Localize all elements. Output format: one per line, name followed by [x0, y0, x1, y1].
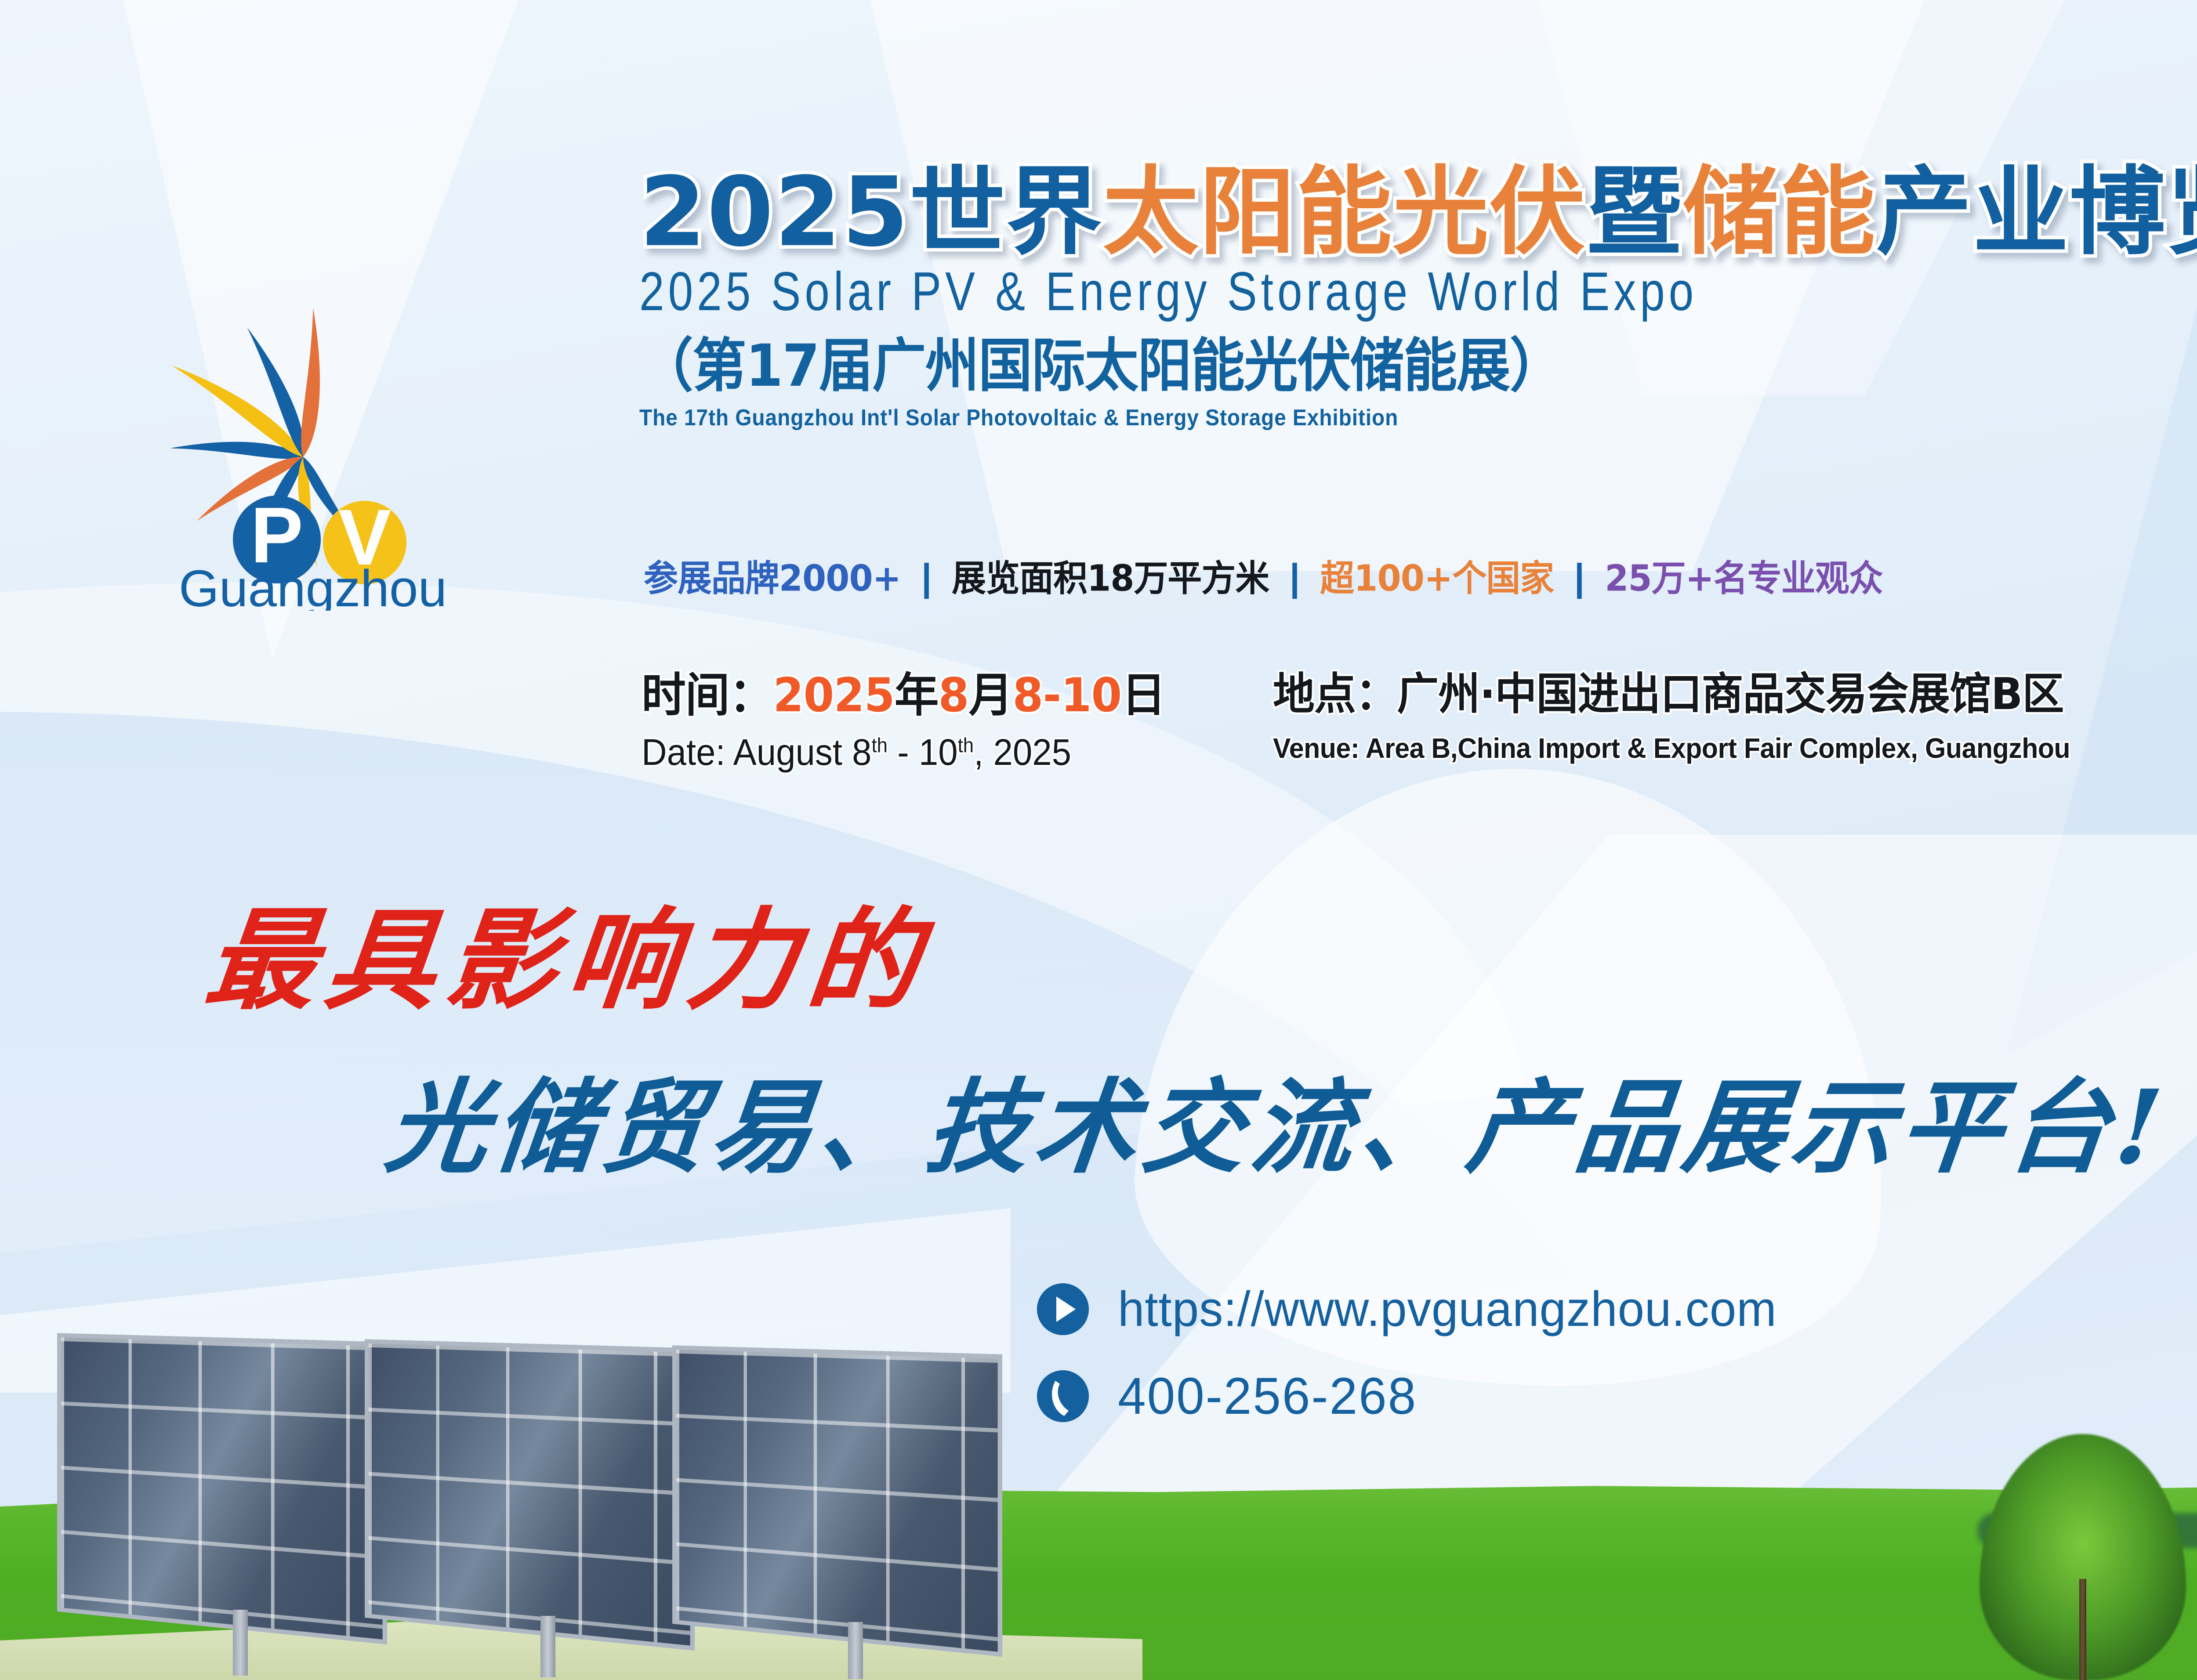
solar-panel-row — [672, 1345, 1002, 1657]
solar-panel-leg — [233, 1610, 248, 1676]
solar-panel-leg — [848, 1622, 863, 1679]
date-en-ordinal-1: th — [871, 734, 887, 757]
date-en-ordinal-2: th — [958, 734, 974, 757]
date-en-mid: - 10 — [888, 731, 958, 773]
stat-visitors: 25万+名专业观众 — [1605, 558, 1883, 600]
headline-chinese: 2025世界太阳能光伏暨储能产业博览会 — [639, 165, 2197, 261]
slogan-line-1: 最具影响力的 — [201, 905, 935, 1015]
venue-chinese: 地点：广州·中国进出口商品交易会展馆B区 — [1273, 672, 2070, 716]
headline-part-2: 暨 — [1586, 157, 1683, 268]
stat-exhibition-area: 展览面积18万平方米 — [952, 558, 1269, 600]
headline-part-0: 2025世界 — [639, 157, 1103, 268]
solar-panel-leg — [540, 1616, 555, 1677]
stat-divider — [924, 563, 928, 599]
venue-label: 地点： — [1273, 668, 1397, 720]
landscape-illustration — [0, 1293, 2197, 1680]
date-day-unit: 日 — [1122, 668, 1166, 722]
venue-english: Venue: Area B,China Import & Export Fair… — [1273, 732, 2070, 764]
slogan-line-2: 光储贸易、技术交流、产品展示平台! — [381, 1076, 2172, 1178]
tree-trunk — [2079, 1579, 2086, 1680]
logo-city-label: Guangzhou — [179, 560, 447, 611]
tree — [1960, 1390, 2197, 1680]
date-venue-block: 时间：2025年8月8-10日 Date: August 8th - 10th,… — [642, 672, 2197, 774]
date-days: 8-10 — [1012, 668, 1121, 722]
stat-exhibiting-brands: 参展品牌2000+ — [644, 558, 901, 600]
date-column: 时间：2025年8月8-10日 Date: August 8th - 10th,… — [642, 672, 1193, 774]
pv-guangzhou-logo: P V Guangzhou — [57, 167, 554, 611]
stat-divider — [1577, 563, 1581, 599]
stats-strip: 参展品牌2000+ 展览面积18万平方米 超100+个国家 25万+名专业观众 — [644, 559, 1883, 597]
poster-canvas: P V Guangzhou 2025世界太阳能光伏暨储能产业博览会 2025 S… — [0, 0, 2197, 1680]
date-en-prefix: Date: August 8 — [642, 731, 871, 773]
date-label: 时间： — [642, 668, 773, 722]
headline-part-3: 储能 — [1683, 157, 1876, 268]
solar-panel-row — [57, 1333, 387, 1644]
date-english: Date: August 8th - 10th, 2025 — [642, 731, 1165, 774]
headline-part-1: 太阳能光伏 — [1103, 157, 1586, 268]
solar-panel-array — [44, 1337, 1002, 1671]
date-year-unit: 年 — [895, 668, 939, 722]
headline-block: 2025世界太阳能光伏暨储能产业博览会 2025 Solar PV & Ener… — [639, 165, 2197, 431]
date-year: 2025 — [773, 668, 894, 722]
date-en-suffix: , 2025 — [974, 731, 1071, 773]
headline-english: 2025 Solar PV & Energy Storage World Exp… — [639, 263, 2153, 320]
stat-divider — [1292, 563, 1297, 599]
date-month: 8 — [938, 668, 968, 722]
date-chinese: 时间：2025年8月8-10日 — [642, 672, 1165, 719]
date-month-unit: 月 — [969, 668, 1013, 722]
venue-value: 广州·中国进出口商品交易会展馆B区 — [1397, 668, 2063, 720]
venue-column: 地点：广州·中国进出口商品交易会展馆B区 Venue: Area B,China… — [1273, 672, 2112, 764]
headline-english-subtitle: The 17th Guangzhou Int'l Solar Photovolt… — [639, 405, 2197, 431]
stat-countries: 超100+个国家 — [1320, 558, 1554, 600]
solar-panel-row — [365, 1339, 695, 1651]
headline-chinese-subtitle: （第17届广州国际太阳能光伏储能展） — [639, 337, 2197, 395]
headline-part-4: 产业博览会 — [1876, 157, 2197, 268]
